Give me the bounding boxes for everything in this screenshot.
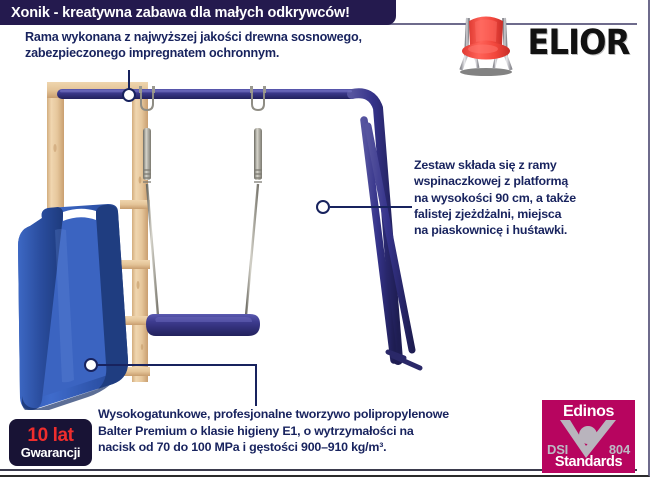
callout-material-line1: Wysokogatunkowe, profesjonalne tworzywo … (98, 406, 528, 423)
marker-set (316, 200, 330, 214)
callout-set-line2: wspinaczkowej z platformą (414, 173, 639, 189)
callout-set-line5: na piaskownicę i huśtawki. (414, 222, 639, 238)
warranty-badge: 10 lat Gwarancji (9, 419, 92, 466)
brand-logo: ELIOR (474, 6, 634, 80)
leader-line-material-horizontal (98, 364, 256, 366)
callout-material-line2: Balter Premium o klasie higieny E1, o wy… (98, 423, 528, 440)
marker-material (84, 358, 98, 372)
marker-frame (122, 88, 136, 102)
certificate-badge: Edinos DSI 804 Standards (542, 400, 635, 473)
leader-line-material-vertical (255, 364, 257, 406)
certificate-subtitle: Standards (542, 454, 635, 470)
callout-set-line1: Zestaw składa się z ramy (414, 157, 639, 173)
callout-set-line3: na wysokości 90 cm, a także (414, 190, 639, 206)
callout-frame-line1: Rama wykonana z najwyższej jakości drewn… (25, 29, 445, 45)
page-title: Xonik - kreatywna zabawa dla małych odkr… (11, 5, 350, 21)
callout-set: Zestaw składa się z ramy wspinaczkowej z… (414, 157, 639, 239)
promo-banner: Xonik - kreatywna zabawa dla małych odkr… (0, 0, 650, 477)
callout-material-line3: nacisk od 70 do 100 MPa i gęstości 900–9… (98, 439, 528, 456)
callout-set-line4: falistej zjeżdżalni, miejsca (414, 206, 639, 222)
leader-line-set-horizontal (330, 206, 412, 208)
header-bar: Xonik - kreatywna zabawa dla małych odkr… (0, 0, 396, 25)
warranty-label: Gwarancji (21, 446, 80, 459)
callout-material: Wysokogatunkowe, profesjonalne tworzywo … (98, 406, 528, 456)
callout-frame: Rama wykonana z najwyższej jakości drewn… (25, 29, 445, 61)
brand-name: ELIOR (528, 26, 630, 61)
red-chair-icon (455, 8, 517, 78)
warranty-years: 10 lat (27, 426, 73, 445)
callout-frame-line2: zabezpieczonego impregnatem ochronnym. (25, 45, 445, 61)
